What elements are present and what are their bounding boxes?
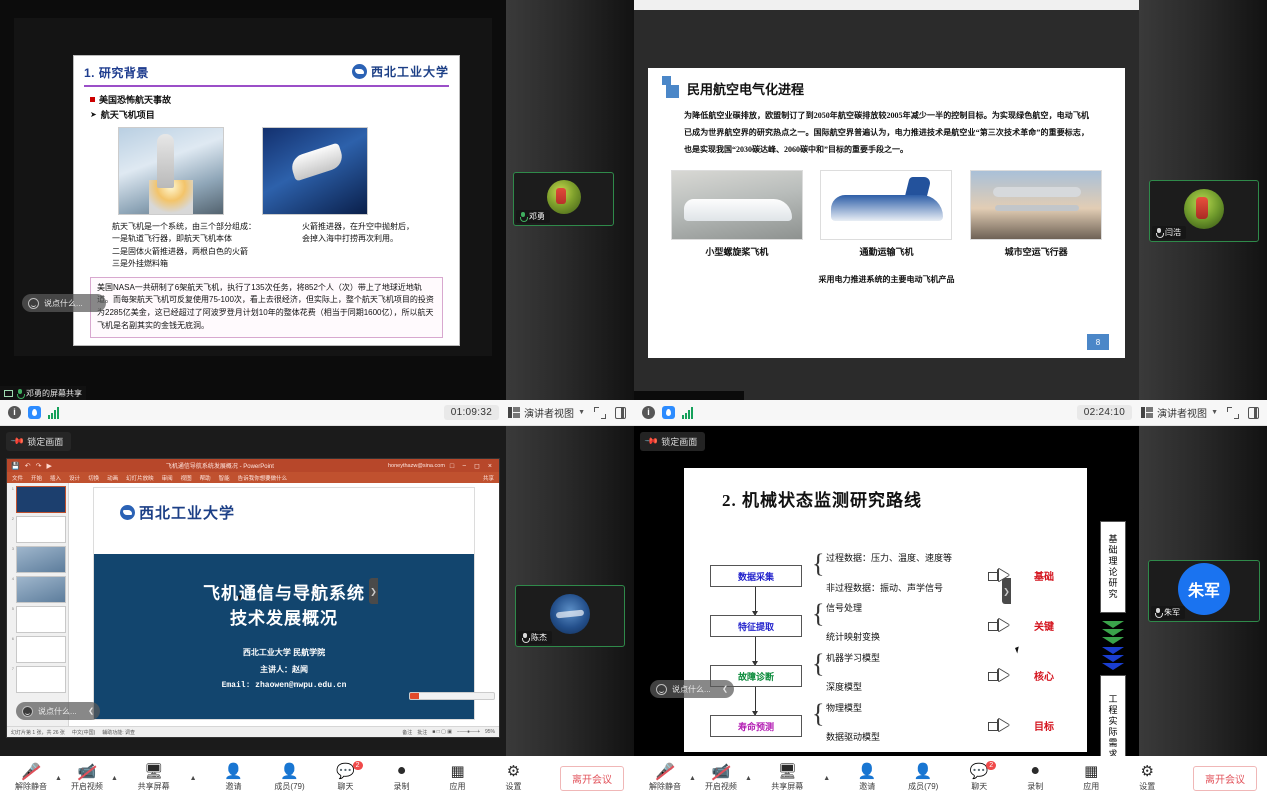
- slide-speaker: 主讲人：赵闻: [94, 663, 474, 677]
- slide-bullet-1: 美国恐怖航天事故: [90, 93, 449, 106]
- ribbon-tab-review[interactable]: 审阅: [162, 474, 173, 482]
- powerpoint-window[interactable]: 💾 ↶ ↷ ▶ 飞机通信导航系统发展概况 - PowerPoint honeyt…: [6, 458, 500, 738]
- participants-label: 成员(79): [274, 781, 304, 792]
- settings-icon: ⚙: [1140, 764, 1153, 779]
- slide-header-area: 西北工业大学: [94, 488, 474, 554]
- filmstrip-bottom-left: 陈杰: [506, 426, 634, 756]
- flow-item: 数据驱动模型: [826, 730, 880, 743]
- video-tile-dengyong[interactable]: 邓勇: [513, 172, 614, 226]
- flow-item: 信号处理: [826, 601, 862, 614]
- encryption-shield-icon[interactable]: [28, 406, 41, 419]
- slide-thumbnail[interactable]: [16, 576, 66, 603]
- start-video-label: 开启视频: [71, 781, 103, 792]
- share-screen-label: 共享屏幕: [138, 781, 170, 792]
- flow-connector: [755, 587, 756, 615]
- video-tile-chenjie[interactable]: 陈杰: [515, 585, 625, 647]
- slide-title-page: 西北工业大学 飞机通信与导航系统 技术发展概况 西北工业大学 民航学院 主讲人：…: [93, 487, 475, 720]
- info-icon[interactable]: i: [642, 406, 655, 419]
- save-icon[interactable]: 💾: [11, 462, 20, 470]
- present-icon[interactable]: ▶: [46, 462, 51, 470]
- pin-screen-chip[interactable]: 📌 锁定画面: [640, 432, 705, 451]
- topbar-status-icons: i: [642, 406, 693, 419]
- info-icon[interactable]: i: [8, 406, 21, 419]
- slide-bullet-2: ➤ 航天飞机项目: [90, 108, 449, 121]
- pin-label: 锁定画面: [661, 435, 697, 448]
- avatar: [1184, 189, 1224, 229]
- square-accent-icon: [662, 76, 671, 85]
- ribbon-tab-view[interactable]: 视图: [181, 474, 192, 482]
- participant-name: 朱军: [1164, 607, 1180, 618]
- flow-diagram: 数据采集 { 过程数据：压力、温度、速度等 非过程数据：振动、声学信号 基础 特…: [696, 525, 1075, 775]
- chevron-down-icon: ▼: [578, 409, 585, 416]
- share-banner-label: 邓勇的屏幕共享: [26, 388, 82, 399]
- control-mid-group: 🖥 共享屏幕 ▲ 👤 邀请 👤 成员(79) 💬 2 聊天: [133, 764, 535, 792]
- avatar-initial: 朱军: [1178, 563, 1230, 615]
- record-label: 录制: [1027, 781, 1043, 792]
- title-rule: [84, 85, 449, 87]
- nwpu-logo: 西北工业大学: [352, 63, 449, 80]
- thumb-number: 1: [9, 486, 14, 491]
- chevron-right-icon: ➤: [90, 110, 97, 119]
- window-controls[interactable]: □ − ◻ ×: [450, 462, 495, 470]
- apps-button[interactable]: ▦ 应用: [437, 764, 479, 792]
- filmstrip-bottom-right: 朱军 朱军: [1139, 426, 1267, 756]
- mic-on-icon: [519, 212, 526, 221]
- flow-box-label: 寿命预测: [738, 720, 774, 733]
- caption-right: 火箭推进器，在升空中抛射后， 会掉入海中打捞再次利用。: [302, 221, 422, 271]
- slide-thumbnail[interactable]: [16, 486, 66, 513]
- emoji-icon[interactable]: [28, 298, 39, 309]
- participant-nametag: 朱军: [1151, 606, 1185, 619]
- unmute-button[interactable]: 🎤 解除静音: [644, 764, 686, 792]
- invite-icon: 👤: [858, 764, 877, 779]
- slide-thumbnail[interactable]: [16, 546, 66, 573]
- slide-org: 西北工业大学 民航学院: [94, 646, 474, 660]
- share-options-chevron-icon[interactable]: ▲: [823, 775, 830, 782]
- leave-meeting-button[interactable]: 离开会议: [1193, 766, 1257, 791]
- mic-muted-icon: 🎤: [656, 764, 675, 779]
- participants-button[interactable]: 👤 成员(79): [902, 764, 944, 792]
- flow-item: 机器学习模型: [826, 651, 880, 664]
- status-comments[interactable]: 批注: [417, 729, 427, 736]
- participant-nametag: 陈杰: [518, 631, 552, 644]
- filmstrip-top-left: 邓勇: [506, 0, 634, 400]
- thumb-row: 6: [9, 636, 66, 663]
- filmstrip-top-right: 闫浩: [1139, 0, 1267, 400]
- arrow-right-icon: [988, 619, 1010, 632]
- invite-button[interactable]: 👤 邀请: [846, 764, 888, 792]
- video-tile-zhujun[interactable]: 朱军 朱军: [1148, 560, 1260, 622]
- record-label: 录制: [394, 781, 410, 792]
- brace-1: {: [812, 551, 824, 577]
- shared-screen-bottom-left[interactable]: 📌 锁定画面 💾 ↶ ↷ ▶ 飞机通信导航系统发展概况 - PowerPoint…: [0, 426, 506, 756]
- nwpu-logo-text: 西北工业大学: [139, 502, 235, 523]
- bullet-square-icon: [90, 97, 95, 102]
- ribbon-tab-animations[interactable]: 动画: [107, 474, 118, 482]
- nwpu-logo-text: 西北工业大学: [371, 63, 449, 80]
- meeting-grid-2x2: 1. 研究背景 西北工业大学 美国恐怖航天事故 ➤ 航天飞机项目: [0, 0, 1267, 800]
- flow-box-feature-extraction: 特征提取: [710, 615, 802, 637]
- slide-thumbnail[interactable]: [16, 516, 66, 543]
- participant-name: 闫浩: [1165, 227, 1181, 238]
- chat-button[interactable]: 💬 2 聊天: [325, 764, 367, 792]
- thumb-row: 5: [9, 606, 66, 633]
- mouse-cursor: [1015, 646, 1021, 653]
- control-bar-bottom-left: 🎤 解除静音 ▲ 📹 开启视频 ▲ 🖥 共享屏幕 ▲ 👤 邀请: [0, 756, 634, 800]
- speaker-view-icon: [1141, 407, 1153, 418]
- brace-3: {: [812, 651, 824, 677]
- record-icon: ⚫: [395, 764, 408, 779]
- record-button[interactable]: ⚫ 录制: [1014, 764, 1056, 792]
- meeting-timer: 01:09:32: [444, 405, 499, 420]
- thumb-number: 4: [9, 576, 14, 581]
- ppt-slide-canvas[interactable]: 西北工业大学 飞机通信与导航系统 技术发展概况 西北工业大学 民航学院 主讲人：…: [69, 483, 499, 726]
- flow-box-data-acquisition: 数据采集: [710, 565, 802, 587]
- slide-title-line2: 技术发展概况: [94, 608, 474, 629]
- ribbon-tab-home[interactable]: 开始: [31, 474, 42, 482]
- leave-meeting-button[interactable]: 离开会议: [560, 766, 624, 791]
- ppt-ribbon-tabs[interactable]: 文件 开始 插入 设计 切换 动画 幻灯片放映 审阅 视图 帮助 智能 告诉我你…: [7, 472, 499, 483]
- start-video-label: 开启视频: [705, 781, 737, 792]
- settings-button[interactable]: ⚙ 设置: [1126, 764, 1168, 792]
- topbar-controls: 02:24:10 演讲者视图 ▼: [1077, 405, 1259, 420]
- emoji-icon[interactable]: [22, 706, 33, 717]
- invite-label: 邀请: [226, 781, 242, 792]
- flow-tag: 目标: [1034, 718, 1054, 733]
- slide-civil-aviation-electrification: 民用航空电气化进程 为降低航空业碳排放，欧盟制订了到2050年航空碳排放较200…: [648, 68, 1125, 358]
- shared-screen-bottom-right[interactable]: 📌 锁定画面 2. 机械状态监测研究路线 数据采集 { 过程数据：压力、温度、速…: [634, 426, 1139, 756]
- meeting-timer: 02:24:10: [1077, 405, 1132, 420]
- slide-images: [118, 127, 449, 215]
- redo-icon[interactable]: ↷: [36, 462, 42, 470]
- ime-toolbar[interactable]: [409, 692, 495, 700]
- flow-box-label: 故障诊断: [738, 670, 774, 683]
- pin-icon: 📌: [10, 434, 26, 450]
- settings-icon: ⚙: [507, 764, 520, 779]
- mic-muted-icon: 🎤: [22, 764, 41, 779]
- speaker-view-icon: [508, 407, 520, 418]
- brace-4: {: [812, 701, 824, 727]
- start-video-button[interactable]: 📹 开启视频: [700, 764, 742, 792]
- pin-label: 锁定画面: [27, 435, 63, 448]
- slide-title-line1: 飞机通信与导航系统: [94, 583, 474, 604]
- nwpu-logo-icon: [352, 64, 367, 79]
- topbar-bottom-right: i 02:24:10 演讲者视图 ▼: [634, 400, 1267, 426]
- ribbon-tab-design[interactable]: 设计: [69, 474, 80, 482]
- slide-title: 民用航空电气化进程: [687, 79, 804, 98]
- thumb-row: 4: [9, 576, 66, 603]
- apps-label: 应用: [450, 781, 466, 792]
- slide-page-number: 8: [1087, 334, 1109, 350]
- nwpu-logo-icon: [120, 505, 135, 520]
- screen-icon: [4, 390, 13, 397]
- bullet-2-label: 航天飞机项目: [101, 108, 155, 121]
- status-slide-count: 幻灯片第 1 张，共 26 张: [11, 729, 65, 736]
- image-caption: 通勤运输飞机: [820, 245, 952, 258]
- thumb-number: 7: [9, 666, 14, 671]
- status-accessibility[interactable]: 辅助功能: 调查: [102, 729, 135, 736]
- invite-button[interactable]: 👤 邀请: [213, 764, 255, 792]
- topbar-status-icons: i: [8, 406, 59, 419]
- stage-top-right: 民用航空电气化进程 为降低航空业碳排放，欧盟制订了到2050年航空碳排放较200…: [634, 0, 1267, 400]
- image-cell: 小型螺旋桨飞机: [671, 170, 803, 258]
- avatar: [550, 594, 590, 634]
- arrow-right-icon: [988, 719, 1010, 732]
- bullet-1-label: 美国恐怖航天事故: [99, 93, 171, 106]
- chat-input-bottom-left[interactable]: 说点什么... ❮: [16, 702, 100, 720]
- invite-label: 邀请: [859, 781, 875, 792]
- urban-air-mobility-photo: [970, 170, 1102, 240]
- commuter-plane-photo: [820, 170, 952, 240]
- slide-thumbnail[interactable]: [16, 636, 66, 663]
- status-notes[interactable]: 备注: [402, 729, 412, 736]
- brace-2: {: [812, 601, 824, 627]
- view-mode-label: 演讲者视图: [1157, 405, 1207, 420]
- flow-item: 深度模型: [826, 680, 862, 693]
- shared-screen-top-left[interactable]: 1. 研究背景 西北工业大学 美国恐怖航天事故 ➤ 航天飞机项目: [0, 0, 506, 400]
- sidebar-toggle-icon[interactable]: [1248, 407, 1259, 419]
- record-button[interactable]: ⚫ 录制: [381, 764, 423, 792]
- zoom-level[interactable]: 95%: [485, 729, 495, 735]
- status-language[interactable]: 中文(中国): [72, 729, 95, 736]
- pane-top-left: 1. 研究背景 西北工业大学 美国恐怖航天事故 ➤ 航天飞机项目: [0, 0, 634, 400]
- nwpu-logo: 西北工业大学: [120, 502, 235, 523]
- slide-footer-note: 采用电力推进系统的主要电动飞机产品: [662, 274, 1111, 285]
- thumb-number: 5: [9, 606, 14, 611]
- network-signal-icon[interactable]: [48, 407, 59, 419]
- chevron-down-icon: ▼: [1211, 409, 1218, 416]
- control-mid-group: 🖥 共享屏幕 ▲ 👤 邀请 👤 成员(79) 💬 2 聊天: [766, 764, 1168, 792]
- share-banner-top-left: 邓勇的屏幕共享: [0, 386, 86, 400]
- mic-off-icon: [521, 633, 528, 642]
- image-caption: 城市空运飞行器: [970, 245, 1102, 258]
- unmute-label: 解除静音: [649, 781, 681, 792]
- participant-nametag: 邓勇: [516, 210, 550, 223]
- slide-paragraph: 为降低航空业碳排放，欧盟制订了到2050年航空碳排放较2005年减少一半的控制目…: [684, 108, 1089, 158]
- network-signal-icon[interactable]: [682, 407, 693, 419]
- thumb-number: 3: [9, 546, 14, 551]
- ppt-document-title: 飞机通信导航系统发展概况 - PowerPoint: [166, 461, 274, 470]
- undo-icon[interactable]: ↶: [25, 462, 31, 470]
- thumb-number: 2: [9, 516, 14, 521]
- invite-icon: 👤: [224, 764, 243, 779]
- control-bar-bottom-right: 🎤 解除静音 ▲ 📹 开启视频 ▲ 🖥 共享屏幕 ▲ 👤 邀请: [634, 756, 1267, 800]
- view-mode-selector[interactable]: 演讲者视图 ▼: [1141, 405, 1218, 420]
- flow-tag: 核心: [1034, 668, 1054, 683]
- settings-button[interactable]: ⚙ 设置: [493, 764, 535, 792]
- thumb-number: 6: [9, 636, 14, 641]
- flow-connector: [755, 687, 756, 715]
- video-tile-yanhao[interactable]: 闫浩: [1149, 180, 1259, 242]
- slide-note-box: 美国NASA一共研制了6架航天飞机，执行了135次任务，将852个人（次）带上了…: [90, 277, 443, 338]
- participants-icon: 👤: [280, 764, 299, 779]
- slide-image-row: 小型螺旋桨飞机 通勤运输飞机 城市空运飞行器: [662, 170, 1111, 258]
- filmstrip-collapse-button[interactable]: ❯: [1002, 578, 1011, 604]
- flow-item: 统计映射变换: [826, 630, 880, 643]
- ribbon-search-box[interactable]: 告诉我你想要做什么: [238, 474, 288, 482]
- flow-box-life-prediction: 寿命预测: [710, 715, 802, 737]
- video-muted-icon: 📹: [712, 764, 731, 779]
- record-icon: ⚫: [1029, 764, 1042, 779]
- zoom-slider[interactable]: −──●──+: [457, 729, 480, 735]
- stage-bottom-right: 📌 锁定画面 2. 机械状态监测研究路线 数据采集 { 过程数据：压力、温度、速…: [634, 426, 1267, 756]
- fullscreen-icon[interactable]: [594, 407, 606, 419]
- share-screen-button[interactable]: 🖥 共享屏幕: [133, 764, 175, 792]
- participant-name: 陈杰: [531, 632, 547, 643]
- side-label-theory: 基础理论研究: [1100, 521, 1126, 613]
- stage-top-left: 1. 研究背景 西北工业大学 美国恐怖航天事故 ➤ 航天飞机项目: [0, 0, 634, 400]
- caption-left: 航天飞机是一个系统，由三个部分组成： 一是轨道飞行器，即航天飞机本体 二是固体火…: [112, 221, 272, 271]
- video-options-chevron-icon[interactable]: ▲: [745, 775, 752, 782]
- sidebar-toggle-icon[interactable]: [615, 407, 626, 419]
- ribbon-tab-transitions[interactable]: 切换: [88, 474, 99, 482]
- topbar-bottom-left: i 01:09:32 演讲者视图 ▼: [0, 400, 634, 426]
- chat-input-bottom-right[interactable]: 说点什么... ❮: [650, 680, 734, 698]
- chat-placeholder: 说点什么...: [672, 684, 711, 695]
- collapse-chevron-icon[interactable]: ❮: [722, 685, 728, 693]
- flow-box-label: 特征提取: [738, 620, 774, 633]
- ppt-statusbar: 幻灯片第 1 张，共 26 张 中文(中国) 辅助功能: 调查 备注 批注 ■ …: [7, 726, 499, 737]
- ribbon-tab-help[interactable]: 帮助: [200, 474, 211, 482]
- screen-share-icon: 🖥: [144, 764, 163, 779]
- slide-thumbnail[interactable]: [16, 606, 66, 633]
- flow-connector: [755, 637, 756, 665]
- ribbon-tab-slideshow[interactable]: 幻灯片放映: [126, 474, 154, 482]
- ppt-account-email[interactable]: honeythazw@sina.com: [388, 463, 445, 469]
- small-propeller-plane-photo: [671, 170, 803, 240]
- unmute-label: 解除静音: [15, 781, 47, 792]
- mic-off-icon: [1155, 228, 1162, 237]
- chat-icon: 💬: [336, 764, 355, 779]
- pin-screen-chip[interactable]: 📌 锁定画面: [6, 432, 71, 451]
- flow-tag: 关键: [1034, 618, 1054, 633]
- video-options-chevron-icon[interactable]: ▲: [111, 775, 118, 782]
- settings-label: 设置: [506, 781, 522, 792]
- slide-title: 2. 机械状态监测研究路线: [722, 486, 1075, 511]
- unmute-button[interactable]: 🎤 解除静音: [10, 764, 52, 792]
- slide-email: Email: zhaowen@nwpu.edu.cn: [94, 681, 474, 690]
- share-options-chevron-icon[interactable]: ▲: [190, 775, 197, 782]
- apps-button[interactable]: ▦ 应用: [1070, 764, 1112, 792]
- shared-screen-top-right[interactable]: 民用航空电气化进程 为降低航空业碳排放，欧盟制订了到2050年航空碳排放较200…: [634, 0, 1139, 400]
- mic-on-icon: [16, 389, 23, 398]
- chat-input-top-left[interactable]: 说点什么...: [22, 294, 106, 312]
- chat-unread-badge: 2: [353, 761, 363, 770]
- audio-options-chevron-icon[interactable]: ▲: [689, 775, 696, 782]
- ppt-share-button[interactable]: 共享: [483, 474, 494, 482]
- apps-label: 应用: [1083, 781, 1099, 792]
- arrow-right-icon: [988, 669, 1010, 682]
- slide-captions: 航天飞机是一个系统，由三个部分组成： 一是轨道飞行器，即航天飞机本体 二是固体火…: [112, 221, 449, 271]
- chat-unread-badge: 2: [986, 761, 996, 770]
- apps-icon: ▦: [1084, 764, 1098, 779]
- pane-bottom-left: i 01:09:32 演讲者视图 ▼ 📌 锁定画面: [0, 400, 634, 800]
- slide-condition-monitoring-roadmap: 2. 机械状态监测研究路线 数据采集 { 过程数据：压力、温度、速度等 非过程数…: [684, 468, 1087, 752]
- filmstrip-collapse-button[interactable]: ❯: [369, 578, 378, 604]
- flow-item: 过程数据：压力、温度、速度等: [826, 551, 952, 564]
- ribbon-tab-file[interactable]: 文件: [12, 474, 23, 482]
- image-caption: 小型螺旋桨飞机: [671, 245, 803, 258]
- image-cell: 通勤运输飞机: [820, 170, 952, 258]
- encryption-shield-icon[interactable]: [662, 406, 675, 419]
- audio-options-chevron-icon[interactable]: ▲: [55, 775, 62, 782]
- thumb-row: 1: [9, 486, 66, 513]
- chat-label: 聊天: [971, 781, 987, 792]
- control-left-group: 🎤 解除静音 ▲ 📹 开启视频 ▲: [644, 764, 754, 792]
- collapse-chevron-icon[interactable]: ❮: [88, 707, 94, 715]
- participants-icon: 👤: [914, 764, 933, 779]
- flow-item: 物理模型: [826, 701, 862, 714]
- share-screen-label: 共享屏幕: [771, 781, 803, 792]
- avatar: [547, 180, 581, 214]
- view-mode-label: 演讲者视图: [524, 405, 574, 420]
- control-left-group: 🎤 解除静音 ▲ 📹 开启视频 ▲: [10, 764, 120, 792]
- fullscreen-icon[interactable]: [1227, 407, 1239, 419]
- slide-research-background: 1. 研究背景 西北工业大学 美国恐怖航天事故 ➤ 航天飞机项目: [74, 56, 459, 345]
- view-mode-selector[interactable]: 演讲者视图 ▼: [508, 405, 585, 420]
- pane-top-right: 民用航空电气化进程 为降低航空业碳排放，欧盟制订了到2050年航空碳排放较200…: [634, 0, 1267, 400]
- participant-nametag: 闫浩: [1152, 226, 1186, 239]
- mic-off-icon: [1154, 608, 1161, 617]
- chat-placeholder: 说点什么...: [44, 298, 83, 309]
- thumb-row: 7: [9, 666, 66, 693]
- view-buttons-icon[interactable]: ■ □ ▢ ▣: [432, 729, 452, 735]
- topbar-controls: 01:09:32 演讲者视图 ▼: [444, 405, 626, 420]
- screen-share-icon: 🖥: [778, 764, 797, 779]
- shuttle-launch-photo: [118, 127, 224, 215]
- settings-label: 设置: [1139, 781, 1155, 792]
- chat-label: 聊天: [338, 781, 354, 792]
- chat-placeholder: 说点什么...: [38, 706, 77, 717]
- square-accent-icon-2: [666, 85, 679, 98]
- chevron-stack-blue: [1102, 647, 1124, 670]
- chat-button[interactable]: 💬 2 聊天: [958, 764, 1000, 792]
- slide-heading: 民用航空电气化进程: [662, 78, 1111, 98]
- participants-label: 成员(79): [908, 781, 938, 792]
- video-muted-icon: 📹: [78, 764, 97, 779]
- participants-button[interactable]: 👤 成员(79): [269, 764, 311, 792]
- emoji-icon[interactable]: [656, 684, 667, 695]
- stage-bottom-left: 📌 锁定画面 💾 ↶ ↷ ▶ 飞机通信导航系统发展概况 - PowerPoint…: [0, 426, 634, 756]
- flow-tag: 基础: [1034, 568, 1054, 583]
- shuttle-orbiter-photo: [262, 127, 368, 215]
- pin-icon: 📌: [644, 434, 660, 450]
- status-right-group: 备注 批注 ■ □ ▢ ▣ −──●──+ 95%: [402, 729, 495, 736]
- flow-item: 非过程数据：振动、声学信号: [826, 581, 943, 594]
- thumb-row: 3: [9, 546, 66, 573]
- start-video-button[interactable]: 📹 开启视频: [66, 764, 108, 792]
- share-screen-button[interactable]: 🖥 共享屏幕: [766, 764, 808, 792]
- pane-bottom-right: i 02:24:10 演讲者视图 ▼ 📌 锁定画面: [634, 400, 1267, 800]
- ppt-slide-thumbnails[interactable]: 1 2 3 4 5 6 7: [7, 483, 69, 726]
- ppt-body: 1 2 3 4 5 6 7: [7, 483, 499, 726]
- ppt-titlebar: 💾 ↶ ↷ ▶ 飞机通信导航系统发展概况 - PowerPoint honeyt…: [7, 459, 499, 472]
- ribbon-tab-insert[interactable]: 插入: [50, 474, 61, 482]
- apps-icon: ▦: [450, 764, 464, 779]
- chevron-stack-green: [1102, 621, 1124, 644]
- participant-name: 邓勇: [529, 211, 545, 222]
- slide-thumbnail[interactable]: [16, 666, 66, 693]
- flow-box-label: 数据采集: [738, 570, 774, 583]
- image-cell: 城市空运飞行器: [970, 170, 1102, 258]
- ribbon-tab-smart[interactable]: 智能: [219, 474, 230, 482]
- thumb-row: 2: [9, 516, 66, 543]
